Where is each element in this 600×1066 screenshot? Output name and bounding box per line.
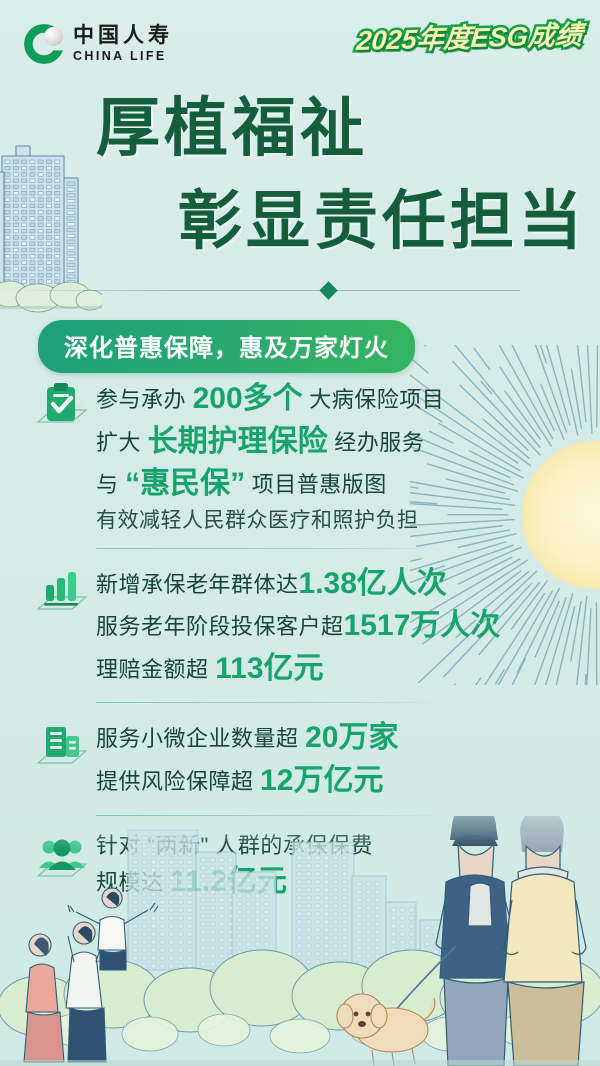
stat-line: 参与承办 200多个 大病保险项目 [96, 378, 600, 421]
stat-text: 大病保险项目 [303, 387, 445, 412]
stat-separator [96, 548, 448, 549]
stat-text: 服务小微企业数量超 [96, 726, 305, 751]
title-divider [0, 290, 520, 291]
logo-name-en: CHINA LIFE [73, 50, 173, 63]
stat-block-3: 服务小微企业数量超 20万家提供风险保障超 12万亿元 [0, 717, 600, 802]
poster-title: 厚植福祉 彰显责任担当 [0, 96, 600, 255]
esg-year-badge: 2025年度ESG成绩 [355, 13, 584, 58]
stat-text: 提供风险保障超 [96, 769, 260, 794]
stat-line: 有效减轻人民群众医疗和照护负担 [96, 506, 600, 536]
stat-text: 理赔金额超 [96, 657, 215, 682]
stat-text: 经办服务 [328, 430, 425, 455]
logo-name-cn: 中国人寿 [73, 25, 173, 46]
stat-highlight-value: 1517万人次 [344, 609, 501, 642]
stat-block-1: 参与承办 200多个 大病保险项目扩大 长期护理保险 经办服务与 “惠民保” 项… [0, 378, 600, 536]
stat-line: 与 “惠民保” 项目普惠版图 [96, 463, 600, 506]
subtitle-banner: 深化普惠保障，惠及万家灯火 [38, 320, 415, 373]
stat-highlight-value: 200多个 [193, 382, 303, 415]
stat-line: 提供风险保障超 12万亿元 [96, 760, 600, 803]
stat-block-2: 新增承保老年群体达1.38亿人次服务老年阶段投保客户超1517万人次理赔金额超 … [0, 563, 600, 691]
stat-line: 理赔金额超 113亿元 [96, 648, 600, 691]
stat-text: 与 [96, 472, 125, 497]
stat-line: 服务老年阶段投保客户超1517万人次 [96, 605, 600, 648]
stat-text: 有效减轻人民群众医疗和照护负担 [96, 509, 419, 532]
title-diamond-marker [319, 281, 337, 299]
stat-line: 新增承保老年群体达1.38亿人次 [96, 563, 600, 606]
office-building-icon [34, 721, 90, 777]
stat-text: 参与承办 [96, 387, 193, 412]
stat-text: 服务老年阶段投保客户超 [96, 614, 344, 639]
clipboard-check-icon [34, 382, 90, 438]
stat-text: 扩大 [96, 430, 148, 455]
page-title-line-2: 彰显责任担当 [178, 189, 600, 254]
stat-highlight-value: “惠民保” [125, 467, 245, 500]
stat-line: 扩大 长期护理保险 经办服务 [96, 421, 600, 464]
stat-separator [96, 702, 448, 703]
stat-highlight-value: 12万亿元 [260, 764, 383, 797]
stat-text: 项目普惠版图 [245, 472, 387, 497]
stat-highlight-value: 长期护理保险 [148, 425, 328, 458]
bar-chart-icon [34, 567, 90, 623]
park-family-elderly-couple-illustration [0, 816, 600, 1066]
page-title-line-1: 厚植福祉 [96, 96, 600, 161]
stat-highlight-value: 1.38亿人次 [299, 567, 447, 600]
china-life-logo: 中国人寿 CHINA LIFE [24, 24, 173, 64]
stat-text: 新增承保老年群体达 [96, 572, 299, 597]
stat-line: 服务小微企业数量超 20万家 [96, 717, 600, 760]
esg-infographic-poster: 中国人寿 CHINA LIFE 2025年度ESG成绩 [0, 0, 600, 1066]
china-life-logo-icon [24, 24, 64, 64]
stat-highlight-value: 20万家 [305, 721, 398, 754]
poster-header: 中国人寿 CHINA LIFE 2025年度ESG成绩 [0, 0, 600, 82]
stat-highlight-value: 113亿元 [215, 652, 323, 685]
